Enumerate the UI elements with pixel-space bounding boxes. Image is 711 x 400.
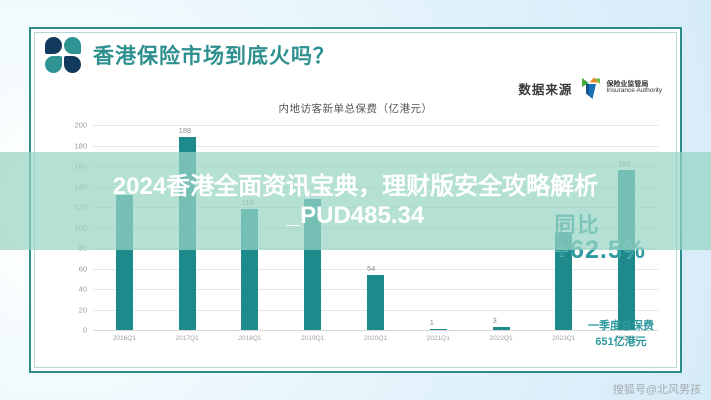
insurance-authority-mark-icon <box>580 75 602 101</box>
y-axis-tick-label: 20 <box>79 305 87 314</box>
logo-petal-top-right <box>64 37 81 54</box>
watermark: 搜狐号@北风男孩 <box>613 381 701 397</box>
logo-petal-bottom-right <box>64 56 81 73</box>
x-axis-tick-label: 2019Q1 <box>301 335 324 342</box>
y-axis-tick-label: 40 <box>79 285 87 294</box>
data-source-badge: 数据来源 保险业监管局 Insurance Authority <box>518 75 662 101</box>
total-premium-annotation: 一季度总保费 651亿港元 <box>588 319 654 351</box>
four-petal-logo-icon <box>45 37 81 73</box>
y-axis-tick-label: 60 <box>79 264 87 273</box>
card-header: 香港保险市场到底火吗？ <box>45 37 335 73</box>
x-axis-tick-label: 2021Q1 <box>427 335 450 342</box>
insurance-authority-text: 保险业监管局 Insurance Authority <box>606 81 662 95</box>
y-axis-tick-label: 0 <box>83 326 87 335</box>
x-axis-tick-label: 2020Q1 <box>364 335 387 342</box>
bar-value-label: 1 <box>430 318 434 327</box>
chart-title: 内地访客新单总保费（亿港元） <box>31 101 680 116</box>
total-premium-value: 651亿港元 <box>588 335 654 351</box>
insurance-authority-logo-icon: 保险业监管局 Insurance Authority <box>580 75 662 101</box>
data-source-label: 数据来源 <box>518 79 572 98</box>
screenshot-root: 香港保险市场到底火吗？ 数据来源 保险业监管局 Insurance Author… <box>0 0 711 400</box>
overlay-caption-line-2: _PUD485.34 <box>287 201 424 230</box>
authority-name-en: Insurance Authority <box>606 88 662 95</box>
logo-petal-bottom-left <box>45 56 62 73</box>
bar-value-label: 54 <box>367 264 375 273</box>
bar: 1 <box>430 329 447 330</box>
bar: 3 <box>493 327 510 330</box>
bar-value-label: 188 <box>179 126 192 135</box>
logo-petal-top-left <box>45 37 62 54</box>
overlay-caption-line-1: 2024香港全面资讯宝典，理财版安全攻略解析 <box>113 172 598 201</box>
y-axis-tick-label: 180 <box>74 141 87 150</box>
bar-value-label: 3 <box>493 316 497 325</box>
x-axis-tick-label: 2016Q1 <box>113 335 136 342</box>
overlay-caption-band: 2024香港全面资讯宝典，理财版安全攻略解析 _PUD485.34 <box>0 152 711 250</box>
x-axis-tick-label: 2018Q1 <box>238 335 261 342</box>
gridline: 0 <box>93 330 658 331</box>
total-premium-label: 一季度总保费 <box>588 319 654 335</box>
x-axis-tick-label: 2023Q1 <box>552 335 575 342</box>
y-axis-tick-label: 200 <box>74 121 87 130</box>
x-axis-tick-label: 2022Q1 <box>490 335 513 342</box>
page-title: 香港保险市场到底火吗？ <box>93 40 335 70</box>
bar: 54 <box>367 275 384 330</box>
x-axis-tick-label: 2017Q1 <box>176 335 199 342</box>
